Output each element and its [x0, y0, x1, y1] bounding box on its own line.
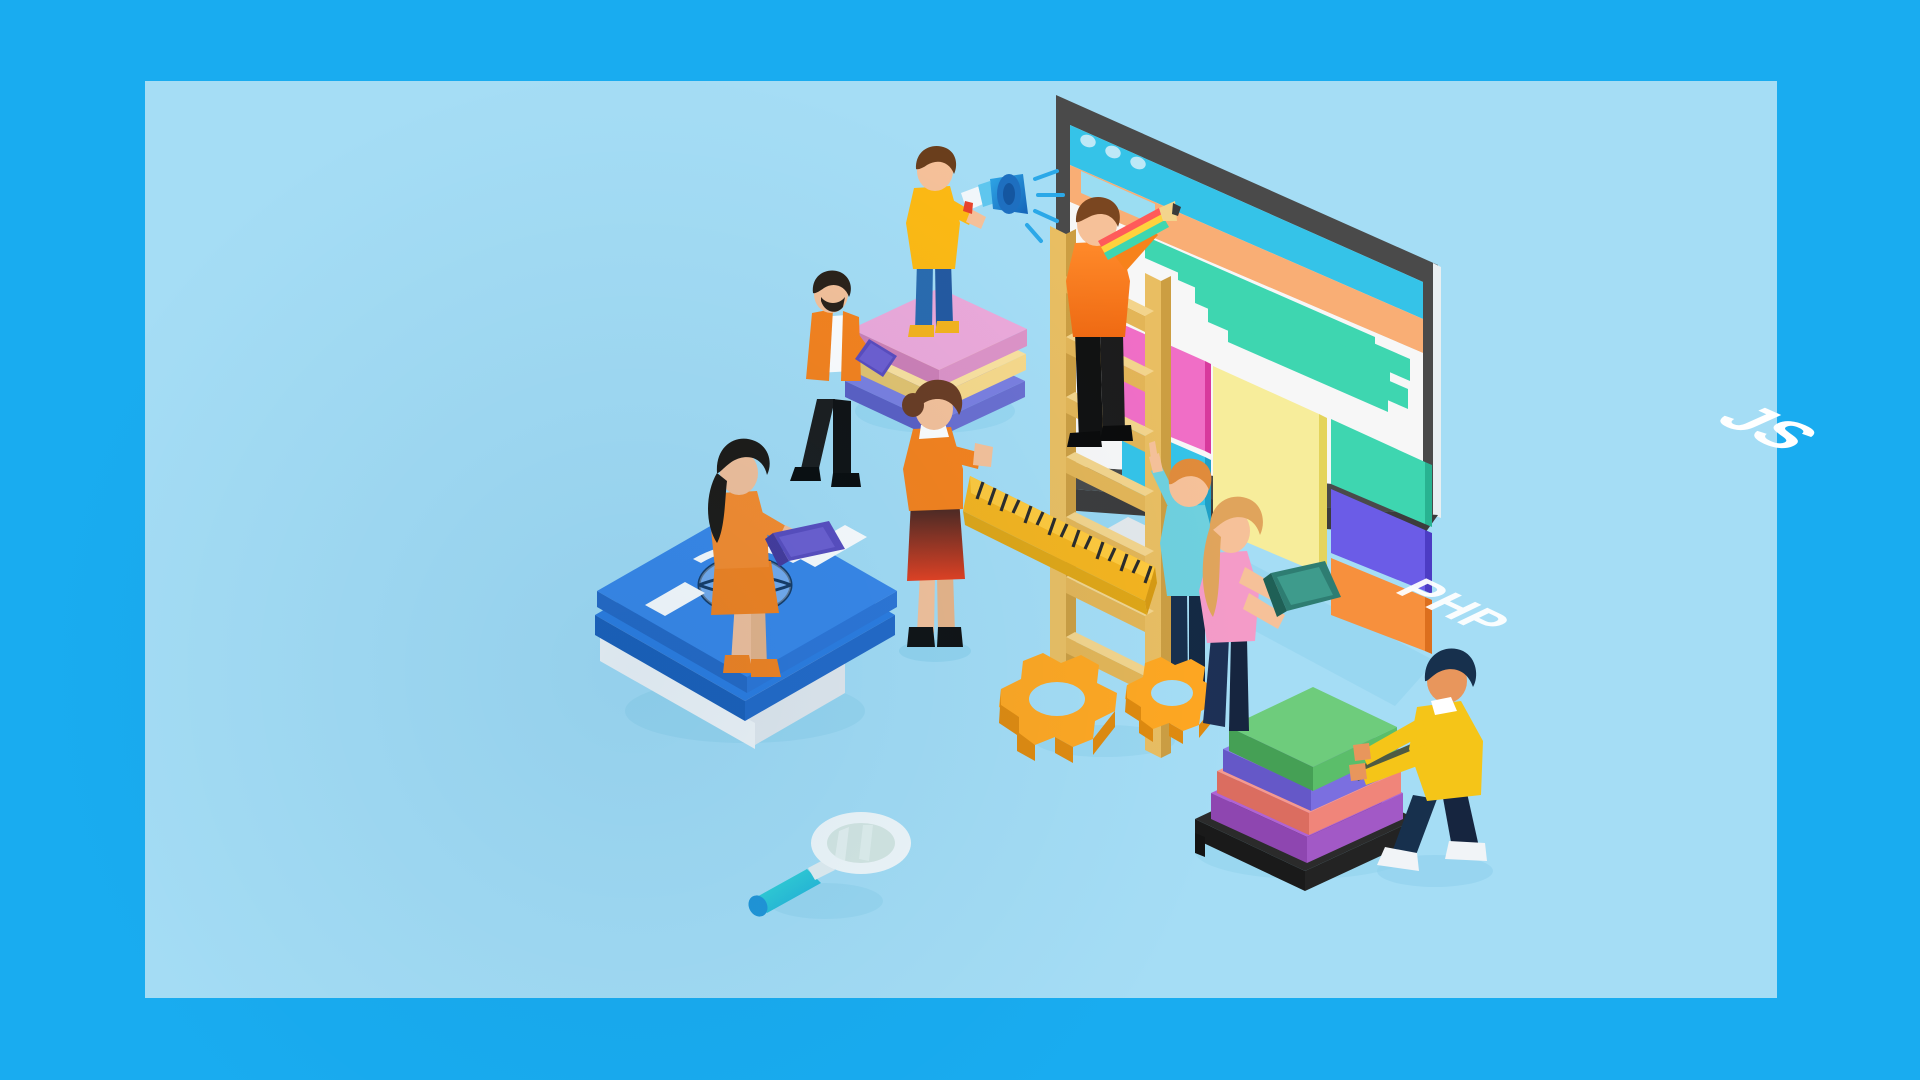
block-pink-edge — [1205, 361, 1211, 454]
meg-shoe-right — [935, 321, 959, 333]
js-label: JS — [1700, 397, 1836, 458]
reader-shoe-2 — [751, 659, 781, 677]
walker-leg-back — [800, 399, 835, 477]
block-yellow-edge — [1319, 414, 1327, 577]
monitor-frame-edge — [1433, 263, 1441, 518]
designer-shoe-left — [1067, 431, 1102, 447]
rh-leg-left — [917, 573, 935, 633]
gear-large-icon — [999, 653, 1117, 763]
ls-leg-left — [1203, 637, 1229, 727]
rh-bun — [902, 393, 924, 417]
megaphone-icon — [961, 174, 1028, 214]
character-megaphone[interactable] — [906, 146, 1063, 337]
walker-leg-front — [833, 399, 851, 481]
magnifier[interactable] — [745, 812, 911, 920]
puller-hand-1 — [1353, 743, 1371, 761]
puller-shoe-front — [1445, 841, 1487, 861]
meg-torso — [906, 186, 960, 269]
walker-shoe-front — [831, 473, 861, 487]
rh-shoe-left — [907, 627, 935, 647]
rh-torso — [903, 427, 963, 511]
rh-leg-right — [937, 573, 955, 633]
meg-leg-right — [935, 261, 953, 327]
ls-leg-right — [1229, 637, 1249, 731]
illustration-canvas: PHP — [0, 0, 1920, 1080]
ladder-rail-left — [1050, 226, 1066, 711]
designer-shoe-right — [1100, 425, 1133, 441]
meg-shoe-left — [908, 325, 934, 337]
rh-skirt — [907, 499, 965, 581]
puller-hand-2 — [1349, 763, 1367, 781]
designer-leg-left — [1075, 332, 1103, 441]
walker-jacket — [806, 309, 833, 381]
meg-leg-left — [915, 261, 933, 331]
reader-skirt — [711, 561, 779, 615]
reader-shoe-1 — [723, 655, 753, 673]
designer-leg-right — [1100, 332, 1125, 436]
rh-hand — [973, 443, 993, 467]
rh-shoe-right — [937, 627, 963, 647]
illustration-panel: PHP — [145, 81, 1777, 998]
walker-shoe-back — [790, 467, 821, 481]
block-teal-edge — [1425, 462, 1432, 527]
isometric-scene: PHP — [145, 81, 1777, 998]
